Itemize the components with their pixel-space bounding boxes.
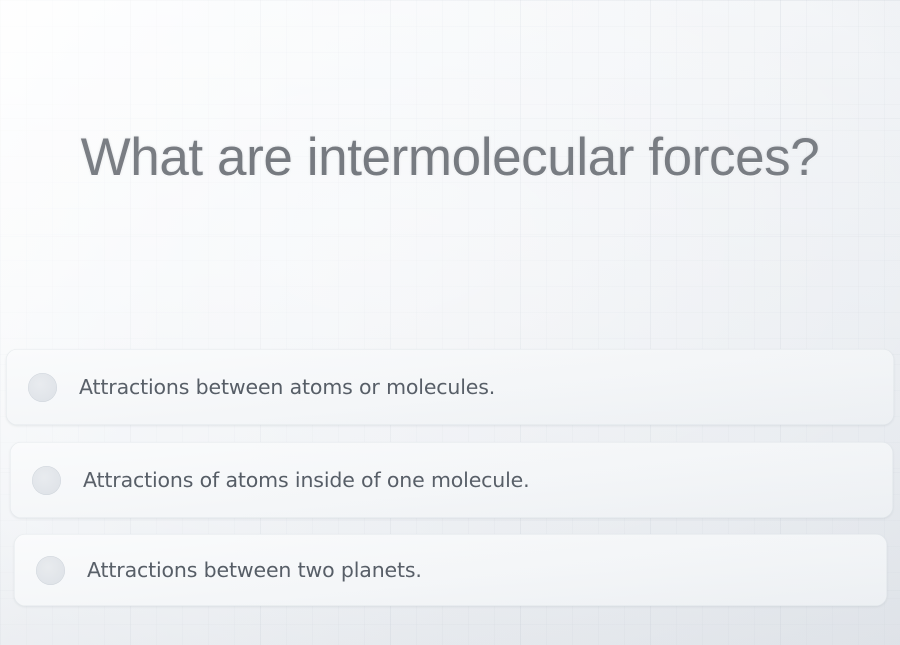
quiz-screen: What are intermolecular forces? Attracti… xyxy=(0,0,900,645)
answer-option-label: Attractions between atoms or molecules. xyxy=(79,375,495,399)
answer-option-label: Attractions between two planets. xyxy=(87,558,422,582)
radio-button-unselected-icon[interactable] xyxy=(36,556,65,585)
answer-option-label: Attractions of atoms inside of one molec… xyxy=(83,468,530,492)
answer-options-list: Attractions between atoms or molecules. … xyxy=(0,349,900,606)
answer-option-a[interactable]: Attractions between atoms or molecules. xyxy=(6,349,894,425)
answer-option-c[interactable]: Attractions between two planets. xyxy=(14,534,887,606)
radio-button-unselected-icon[interactable] xyxy=(32,466,61,495)
answer-option-b[interactable]: Attractions of atoms inside of one molec… xyxy=(10,442,893,518)
question-title: What are intermolecular forces? xyxy=(0,127,900,188)
radio-button-unselected-icon[interactable] xyxy=(28,373,57,402)
